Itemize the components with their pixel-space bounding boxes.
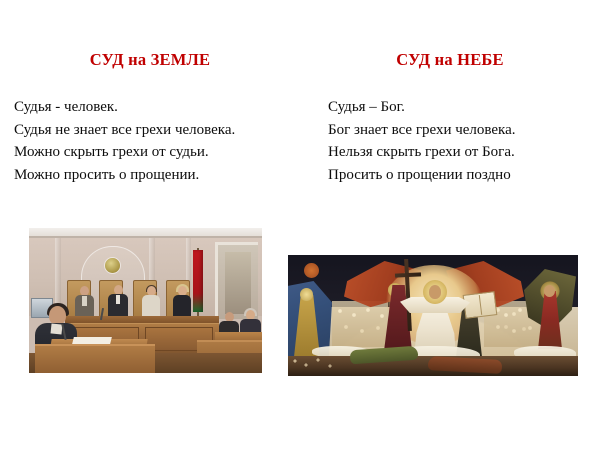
left-figure-halo <box>300 288 313 301</box>
archangel-head <box>544 285 555 297</box>
text-line: Судья не знает все грехи человека. <box>14 119 235 142</box>
text-line: Судья – Бог. <box>328 96 516 119</box>
last-judgment-fresco <box>288 255 578 376</box>
christ-head <box>429 285 441 299</box>
text-line: Бог знает все грехи человека. <box>328 119 516 142</box>
crowd-of-righteous <box>332 301 388 347</box>
column-heading-heavenly-judgment: СУД на НЕБЕ <box>300 50 600 70</box>
person-body <box>142 295 160 317</box>
column-heading-earthly-judgment: СУД на ЗЕМЛЕ <box>0 50 300 70</box>
desk-papers <box>72 337 112 344</box>
person-shirt <box>116 295 120 304</box>
text-line: Можно просить о прощении. <box>14 164 235 187</box>
state-emblem-icon <box>105 258 120 273</box>
courtroom-photo-content <box>29 228 262 373</box>
text-line: Судья - человек. <box>14 96 235 119</box>
person-body <box>173 295 191 317</box>
text-line: Нельзя скрыть грехи от Бога. <box>328 141 516 164</box>
person-shirt <box>82 296 87 306</box>
open-book-icon <box>463 291 498 319</box>
text-column-left: Судья - человек. Судья не знает все грех… <box>14 96 235 186</box>
courtroom-photo <box>29 228 262 373</box>
text-line: Просить о прощении поздно <box>328 164 516 187</box>
slide-canvas: СУД на ЗЕМЛЕ СУД на НЕБЕ Судья - человек… <box>0 0 600 450</box>
doorway-opening <box>225 252 251 314</box>
text-line: Можно скрыть грехи от судьи. <box>14 141 235 164</box>
foreground-desk <box>35 344 155 373</box>
fresco-content <box>288 255 578 376</box>
text-column-right: Судья – Бог. Бог знает все грехи человек… <box>328 96 516 186</box>
national-flag <box>193 250 203 312</box>
lower-crowd <box>288 354 346 376</box>
